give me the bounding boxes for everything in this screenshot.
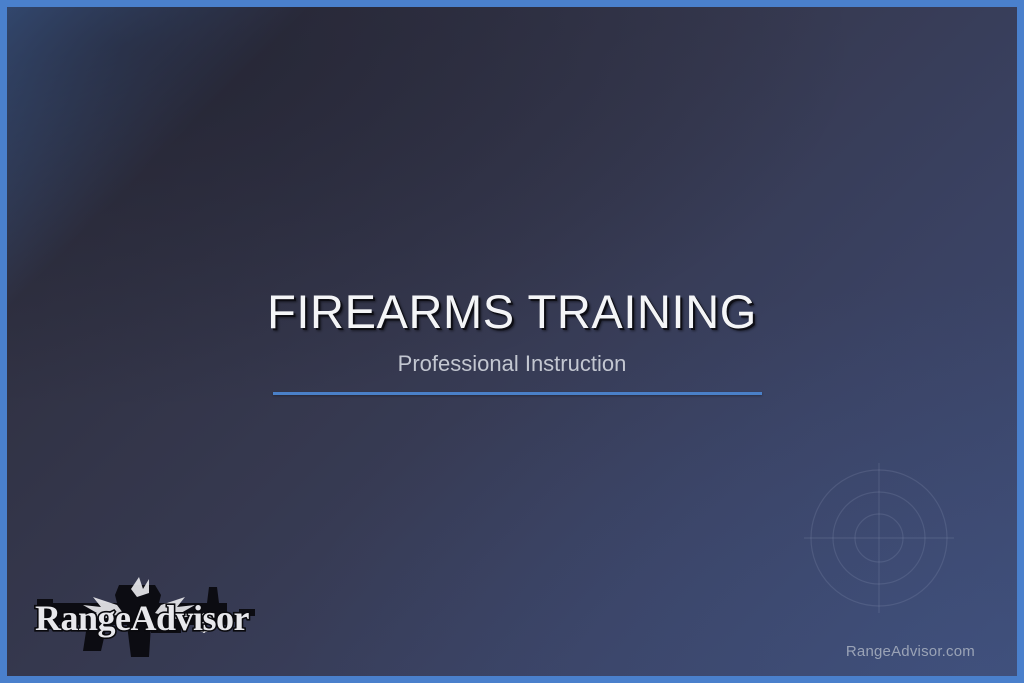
accent-divider — [273, 392, 762, 395]
brand-wordmark: RangeAdvisor — [35, 598, 250, 638]
slide-canvas: FIREARMS TRAINING Professional Instructi… — [7, 7, 1017, 676]
title-block: FIREARMS TRAINING Professional Instructi… — [7, 288, 1017, 375]
page-subtitle: Professional Instruction — [7, 335, 1017, 375]
footer-website-url: RangeAdvisor.com — [846, 643, 975, 660]
crosshair-target-icon — [804, 463, 954, 613]
brand-logo: RangeAdvisor — [31, 563, 266, 659]
page-title: FIREARMS TRAINING — [7, 288, 1017, 335]
presentation-slide: FIREARMS TRAINING Professional Instructi… — [0, 0, 1024, 683]
